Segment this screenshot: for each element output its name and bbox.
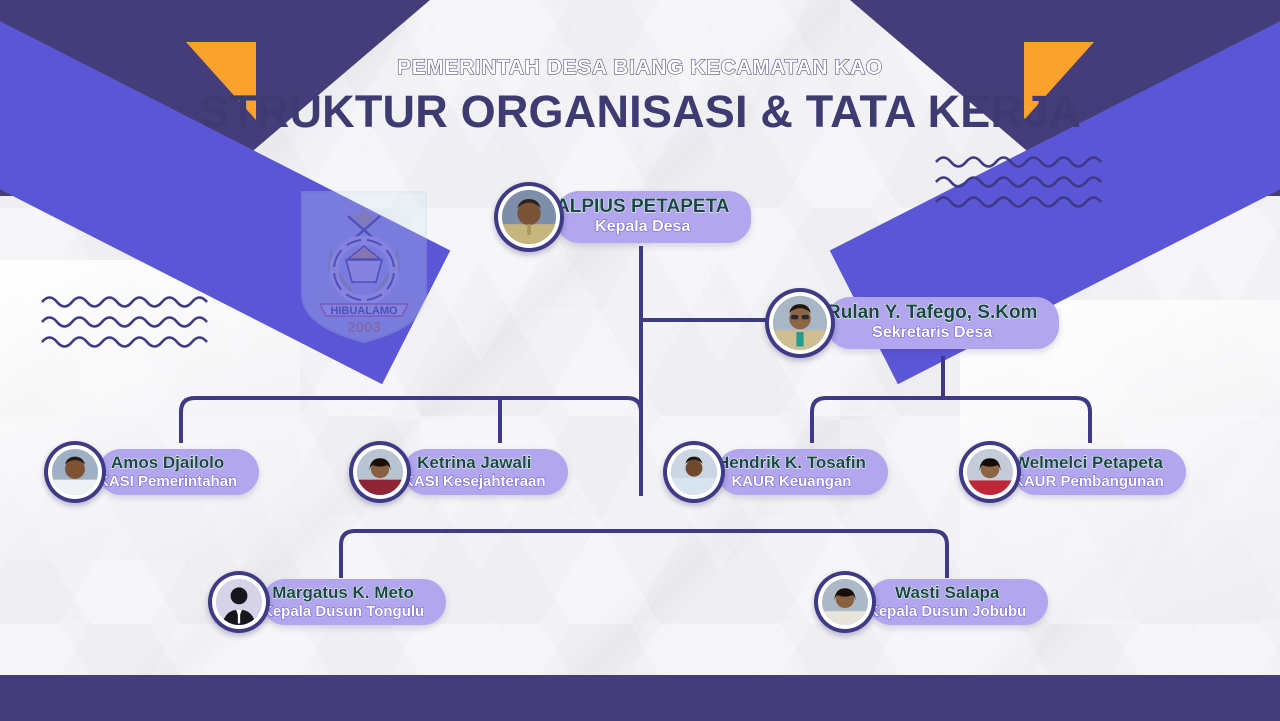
- person-name: Ketrina Jawali: [417, 454, 531, 472]
- footer-bar: [0, 675, 1280, 721]
- person-role: KAUR Keuangan: [731, 473, 851, 490]
- village-emblem-watermark: HIBUALAMO 2003: [296, 186, 432, 346]
- avatar: [349, 441, 411, 503]
- emblem-year-text: 2003: [347, 319, 380, 336]
- poster-title: STRUKTUR ORGANISASI & TATA KERJA: [0, 86, 1280, 138]
- person-role: Sekretaris Desa: [872, 324, 992, 342]
- avatar: [663, 441, 725, 503]
- emblem-banner: HIBUALAMO: [320, 304, 408, 317]
- photo-male-3-icon: [52, 449, 98, 495]
- silhouette-placeholder-icon: [216, 579, 262, 625]
- avatar: [765, 288, 835, 358]
- person-name: ALPIUS PETAPETA: [556, 197, 729, 217]
- triangle-small-right: [1090, 184, 1128, 236]
- node-pill: Welmelci Petapeta KAUR Pembangunan: [1013, 449, 1186, 495]
- photo-male-2-icon: [773, 296, 827, 350]
- avatar: [208, 571, 270, 633]
- node-pill: Ketrina Jawali KASI Kesejahteraan: [403, 449, 568, 495]
- photo-male-4-icon: [671, 449, 717, 495]
- node-kasi-kesejahteraan[interactable]: Ketrina Jawali KASI Kesejahteraan: [349, 441, 568, 503]
- photo-female-3-icon: [822, 579, 868, 625]
- node-kadus-tongulu[interactable]: Margatus K. Meto Kepala Dusun Tongulu: [208, 571, 446, 633]
- person-name: Hendrik K. Tosafin: [717, 454, 866, 472]
- person-role: KAUR Pembangunan: [1013, 473, 1164, 490]
- wire-left-cluster: [181, 398, 641, 443]
- node-sekretaris-desa[interactable]: Rulan Y. Tafego, S.Kom Sekretaris Desa: [765, 288, 1059, 358]
- person-name: Welmelci Petapeta: [1014, 454, 1163, 472]
- person-role: Kepala Dusun Jobubu: [868, 603, 1026, 620]
- node-pill: ALPIUS PETAPETA Kepala Desa: [556, 191, 751, 243]
- person-role: Kepala Dusun Tongulu: [262, 603, 424, 620]
- node-kadus-jobubu[interactable]: Wasti Salapa Kepala Dusun Jobubu: [814, 571, 1048, 633]
- person-role: KASI Pemerintahan: [98, 473, 237, 490]
- person-name: Margatus K. Meto: [272, 584, 414, 602]
- emblem-banner-text: HIBUALAMO: [330, 305, 398, 317]
- triangle-large-right: [1140, 144, 1202, 238]
- person-role: KASI Kesejahteraan: [403, 473, 546, 490]
- triangle-small-left: [152, 184, 190, 236]
- person-name: Amos Djailolo: [111, 454, 224, 472]
- org-chart-poster: HIBUALAMO 2003 PEMERINTAH DESA BIANG KEC…: [0, 0, 1280, 721]
- node-pill: Rulan Y. Tafego, S.Kom Sekretaris Desa: [827, 297, 1059, 349]
- wave-lines-right: [934, 152, 1114, 212]
- node-kaur-keuangan[interactable]: Hendrik K. Tosafin KAUR Keuangan: [663, 441, 888, 503]
- node-pill: Margatus K. Meto Kepala Dusun Tongulu: [262, 579, 446, 625]
- photo-female-2-icon: [967, 449, 1013, 495]
- avatar: [44, 441, 106, 503]
- avatar: [814, 571, 876, 633]
- person-name: Wasti Salapa: [895, 584, 999, 602]
- poster-subtitle: PEMERINTAH DESA BIANG KECAMATAN KAO: [0, 56, 1280, 80]
- node-pill: Wasti Salapa Kepala Dusun Jobubu: [868, 579, 1048, 625]
- photo-female-1-icon: [357, 449, 403, 495]
- triangle-large-left: [78, 144, 140, 238]
- photo-male-1-icon: [502, 190, 556, 244]
- wire-right-cluster: [812, 398, 1090, 443]
- person-name: Rulan Y. Tafego, S.Kom: [827, 303, 1037, 323]
- background-panel-left: [0, 260, 300, 560]
- node-kasi-pemerintahan[interactable]: Amos Djailolo KASI Pemerintahan: [44, 441, 259, 503]
- node-kepala-desa[interactable]: ALPIUS PETAPETA Kepala Desa: [494, 182, 751, 252]
- person-role: Kepala Desa: [595, 218, 690, 236]
- avatar: [959, 441, 1021, 503]
- node-pill: Hendrik K. Tosafin KAUR Keuangan: [717, 449, 888, 495]
- avatar: [494, 182, 564, 252]
- node-pill: Amos Djailolo KASI Pemerintahan: [98, 449, 259, 495]
- wave-lines-left: [40, 292, 220, 352]
- node-kaur-pembangunan[interactable]: Welmelci Petapeta KAUR Pembangunan: [959, 441, 1186, 503]
- poster-header: PEMERINTAH DESA BIANG KECAMATAN KAO STRU…: [0, 0, 1280, 138]
